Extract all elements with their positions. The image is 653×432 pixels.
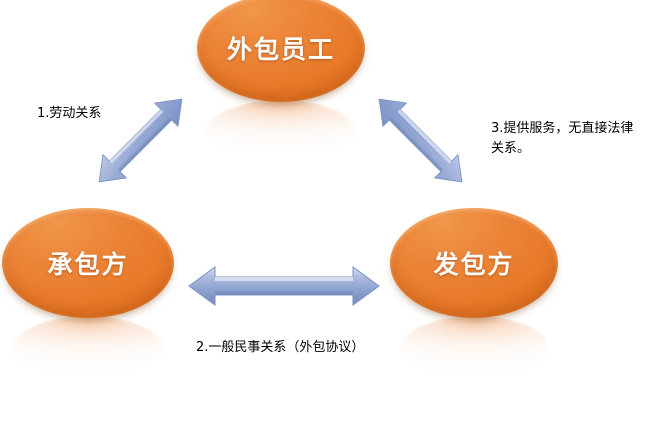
node-label-contractor: 承包方 xyxy=(47,245,128,281)
connector-label-service-relation: 3.提供服务，无直接法律关系。 xyxy=(491,119,641,159)
node-label-outsourced-employee: 外包员工 xyxy=(227,30,335,66)
node-outsourced-employee[interactable]: 外包员工 xyxy=(197,0,365,102)
connector-arrow-labor-relation[interactable] xyxy=(78,78,203,203)
node-reflection-outsourced-employee xyxy=(206,100,356,162)
connector-arrow-service-relation[interactable] xyxy=(358,78,483,203)
double-headed-arrow-icon xyxy=(358,78,483,203)
connector-arrow-civil-relation[interactable] xyxy=(186,262,382,310)
node-label-client: 发包方 xyxy=(433,245,514,281)
double-headed-arrow-icon xyxy=(78,78,203,203)
connector-label-labor-relation: 1.劳动关系 xyxy=(37,104,101,124)
node-reflection-client xyxy=(400,316,550,380)
node-client[interactable]: 发包方 xyxy=(390,208,558,318)
diagram-canvas: 外包员工 承包方 发包方 1.劳动关系 3.提供服务，无直接法律关系。 2.一般… xyxy=(0,0,653,432)
node-contractor[interactable]: 承包方 xyxy=(2,208,174,318)
node-reflection-contractor xyxy=(12,316,164,380)
double-headed-arrow-icon xyxy=(186,262,382,310)
connector-label-civil-relation: 2.一般民事关系（外包协议） xyxy=(196,338,364,358)
